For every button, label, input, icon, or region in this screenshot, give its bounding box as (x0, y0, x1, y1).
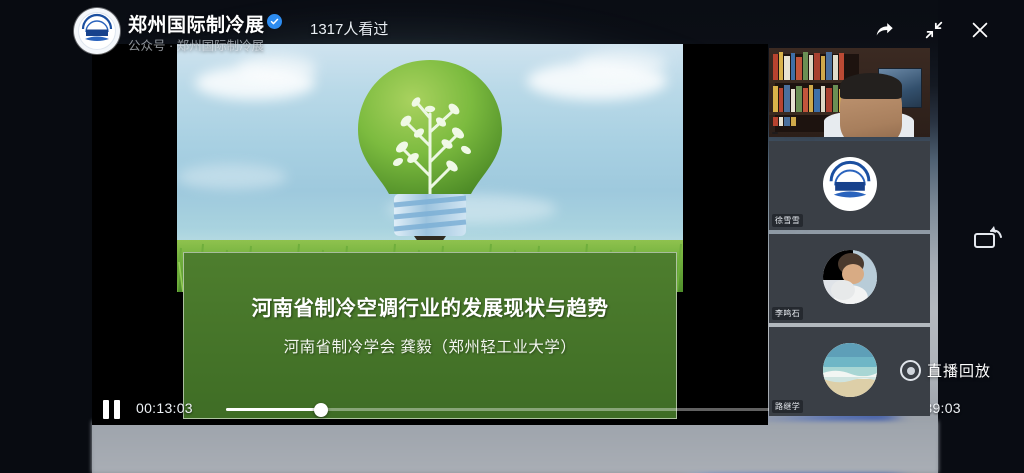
pillarbox-right (683, 44, 768, 425)
viewer-count: 1317人看过 (310, 18, 388, 39)
live-replay-player: 郑州国际制冷展 公众号 · 郑州国际制冷展 1317人看过 (0, 0, 1024, 473)
participant-name: 李鸣石 (772, 307, 803, 320)
bottom-blurred-strip (92, 421, 938, 473)
pause-icon[interactable] (92, 392, 130, 426)
channel-logo-icon (77, 11, 117, 51)
participant-name (772, 132, 778, 134)
channel-name: 郑州国际制冷展 (128, 10, 265, 37)
avatar[interactable] (74, 8, 120, 54)
person-photo-icon (823, 250, 877, 304)
channel-subtitle: 公众号 · 郑州国际制冷展 (128, 35, 264, 54)
rotate-screen-icon[interactable] (972, 222, 1006, 252)
beach-photo-icon (823, 343, 877, 397)
progress-filled (226, 408, 321, 411)
record-circle-icon (900, 360, 921, 381)
video-stage[interactable]: 河南省制冷空调行业的发展现状与趋势 河南省制冷学会 龚毅（郑州轻工业大学） (177, 44, 683, 425)
participant-name: 路继学 (772, 400, 803, 413)
presentation-slide: 河南省制冷空调行业的发展现状与趋势 河南省制冷学会 龚毅（郑州轻工业大学） (177, 44, 683, 425)
avatar (823, 250, 877, 304)
participant-thumbnail-2[interactable]: 徐雪雪 (769, 141, 930, 230)
channel-logo-icon (823, 157, 877, 211)
slide-title: 河南省制冷空调行业的发展现状与趋势 (184, 291, 676, 321)
participant-name: 徐雪雪 (772, 214, 803, 227)
verified-badge-icon (267, 14, 282, 29)
pillarbox-left (92, 44, 177, 425)
left-letterbox (0, 0, 92, 473)
close-icon[interactable] (966, 16, 994, 44)
collapse-icon[interactable] (920, 16, 948, 44)
participant-thumbnail-speaker[interactable] (769, 48, 930, 137)
current-time: 00:13:03 (136, 400, 193, 416)
status-badge: 直播回放 (900, 360, 991, 381)
share-icon[interactable] (870, 16, 898, 44)
speaker-camera-feed (769, 48, 930, 137)
slide-subtitle: 河南省制冷学会 龚毅（郑州轻工业大学） (184, 335, 676, 357)
avatar (823, 157, 877, 211)
status-badge-label: 直播回放 (927, 360, 991, 381)
progress-knob[interactable] (314, 403, 328, 417)
participant-thumbnail-3[interactable]: 李鸣石 (769, 234, 930, 323)
avatar (823, 343, 877, 397)
